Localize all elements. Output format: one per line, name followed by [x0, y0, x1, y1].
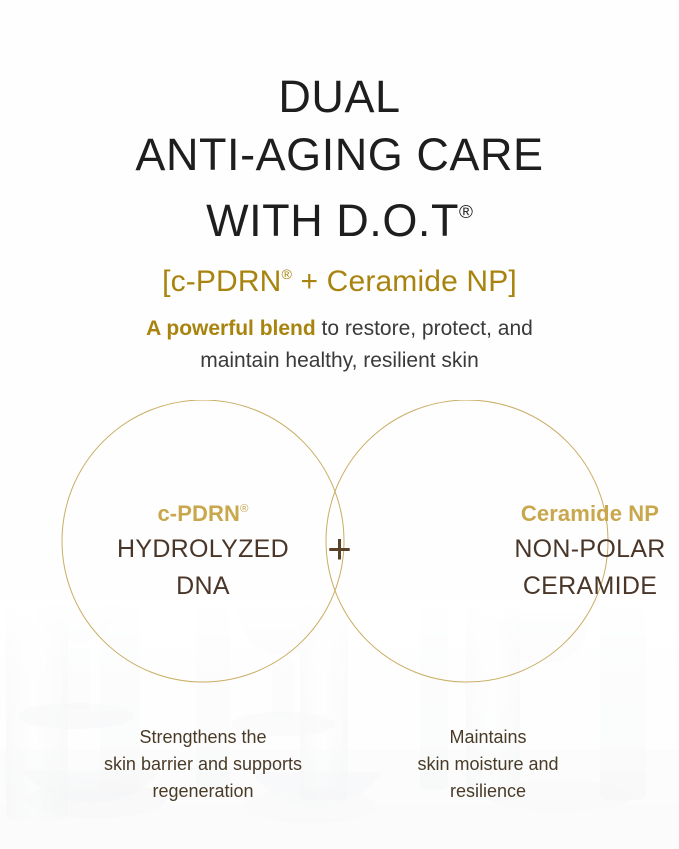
caption-right-line-1: Maintains — [358, 724, 618, 751]
caption-left: Strengthens the skin barrier and support… — [73, 724, 333, 805]
venn-right-main-line-1: NON-POLAR — [465, 532, 679, 566]
headline-line-1: DUAL — [0, 68, 679, 126]
venn-left-tag: c-PDRN® — [78, 494, 328, 529]
registered-trademark-icon: ® — [459, 202, 473, 223]
blurb-line-2: maintain healthy, resilient skin — [0, 345, 679, 377]
venn-left-main-line-2: DNA — [78, 569, 328, 603]
blurb-rest-text: to restore, protect, and — [316, 317, 533, 340]
headline-line-2: ANTI-AGING CARE — [0, 126, 679, 184]
caption-right: Maintains skin moisture and resilience — [358, 724, 618, 805]
caption-left-line-1: Strengthens the — [73, 724, 333, 751]
venn-label-left: c-PDRN® HYDROLYZED DNA — [78, 494, 328, 603]
headline-line-3: WITH D.O.T® — [0, 184, 679, 250]
venn-left-main-line-1: HYDROLYZED — [78, 532, 328, 566]
caption-right-line-2: skin moisture and — [358, 751, 618, 778]
caption-left-line-3: regeneration — [73, 778, 333, 805]
bracket-middle-text: + Ceramide NP] — [292, 265, 517, 298]
blurb-line-1: A powerful blend to restore, protect, an… — [0, 313, 679, 345]
bracket-open-text: [c-PDRN — [162, 265, 281, 298]
registered-trademark-icon: ® — [282, 266, 293, 282]
venn-right-tag: Ceramide NP — [465, 494, 679, 529]
registered-trademark-icon: ® — [240, 503, 249, 515]
promo-graphic-page: DUAL ANTI-AGING CARE WITH D.O.T® [c-PDRN… — [0, 0, 679, 849]
caption-left-line-2: skin barrier and supports — [73, 751, 333, 778]
blurb-accent-text: A powerful blend — [146, 317, 316, 340]
headline-line-3-text: WITH D.O.T — [206, 195, 459, 246]
venn-left-tag-text: c-PDRN — [157, 501, 240, 526]
description-blurb: A powerful blend to restore, protect, an… — [0, 313, 679, 377]
ingredient-bracket-line: [c-PDRN® + Ceramide NP] — [0, 254, 679, 302]
caption-right-line-3: resilience — [358, 778, 618, 805]
venn-right-main-line-2: CERAMIDE — [465, 569, 679, 603]
page-title: DUAL ANTI-AGING CARE WITH D.O.T® — [0, 68, 679, 250]
plus-icon: + — [313, 528, 366, 570]
venn-right-tag-text: Ceramide NP — [521, 501, 659, 526]
venn-label-right: Ceramide NP NON-POLAR CERAMIDE — [465, 494, 679, 603]
